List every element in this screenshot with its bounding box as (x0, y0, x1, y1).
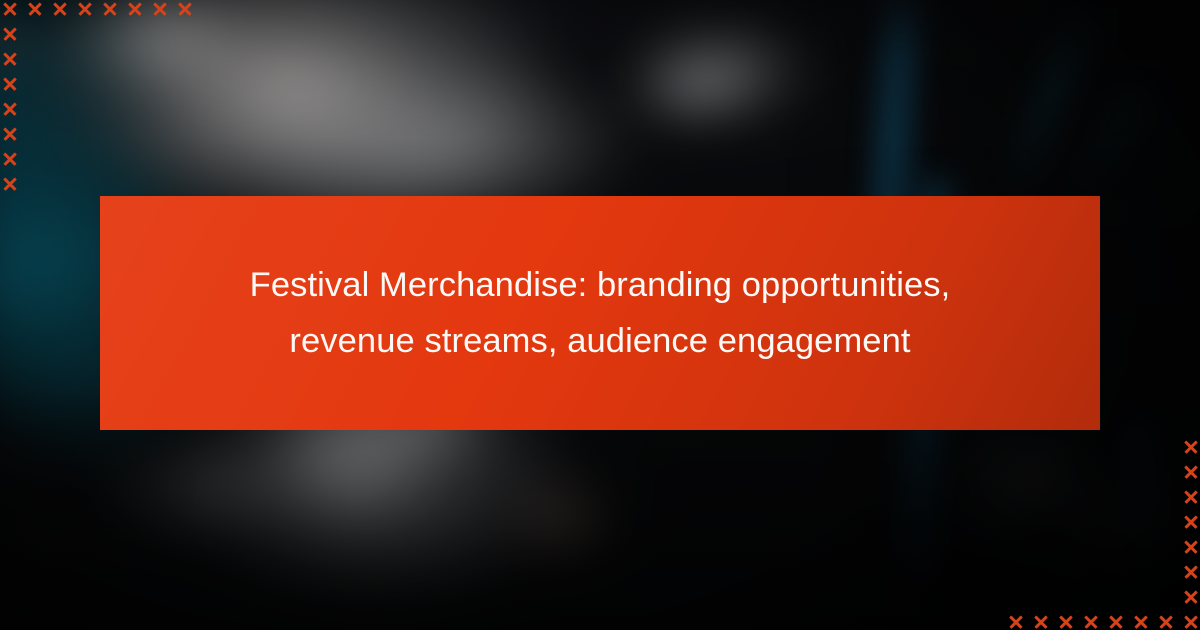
x-marker-icon (1178, 434, 1200, 459)
x-marker-icon (1053, 609, 1078, 630)
x-marker-row (1003, 459, 1200, 484)
x-marker-icon (172, 0, 197, 21)
x-marker-row (0, 46, 197, 71)
x-marker-icon (147, 0, 172, 21)
x-marker-icon (1178, 584, 1200, 609)
x-marker-icon (0, 171, 22, 196)
x-marker-row (1003, 509, 1200, 534)
x-marker-icon (1078, 609, 1103, 630)
x-marker-row (0, 171, 197, 196)
x-marker-icon (1128, 609, 1153, 630)
x-marker-icon (1178, 534, 1200, 559)
x-marker-row (1003, 434, 1200, 459)
x-marker-icon (0, 0, 22, 21)
x-marker-icon (1178, 459, 1200, 484)
x-marker-icon (1028, 609, 1053, 630)
x-marker-row (1003, 534, 1200, 559)
x-marker-row (0, 121, 197, 146)
x-marker-icon (0, 21, 22, 46)
x-marker-icon (22, 0, 47, 21)
x-marker-icon (0, 146, 22, 171)
x-marker-row (0, 71, 197, 96)
x-marker-row (0, 21, 197, 46)
x-marker-icon (1178, 609, 1200, 630)
x-marker-icon (1178, 509, 1200, 534)
x-marker-icon (0, 46, 22, 71)
x-marker-row (0, 96, 197, 121)
x-marker-icon (47, 0, 72, 21)
x-marker-row (1003, 484, 1200, 509)
x-marker-icon (1178, 484, 1200, 509)
x-marker-row (1003, 559, 1200, 584)
x-marker-row (0, 0, 197, 21)
x-pattern-top-left (0, 0, 197, 196)
x-marker-icon (72, 0, 97, 21)
social-share-card: Festival Merchandise: branding opportuni… (0, 0, 1200, 630)
x-marker-icon (1003, 609, 1028, 630)
x-marker-icon (1153, 609, 1178, 630)
x-marker-icon (1178, 559, 1200, 584)
x-marker-row (0, 146, 197, 171)
x-marker-row (1003, 584, 1200, 609)
page-title: Festival Merchandise: branding opportuni… (205, 257, 995, 369)
x-marker-icon (97, 0, 122, 21)
x-marker-icon (0, 121, 22, 146)
x-marker-row (1003, 609, 1200, 630)
x-pattern-bottom-right (1003, 434, 1200, 630)
x-marker-icon (0, 71, 22, 96)
x-marker-icon (122, 0, 147, 21)
x-marker-icon (0, 96, 22, 121)
title-card: Festival Merchandise: branding opportuni… (100, 196, 1100, 430)
x-marker-icon (1103, 609, 1128, 630)
